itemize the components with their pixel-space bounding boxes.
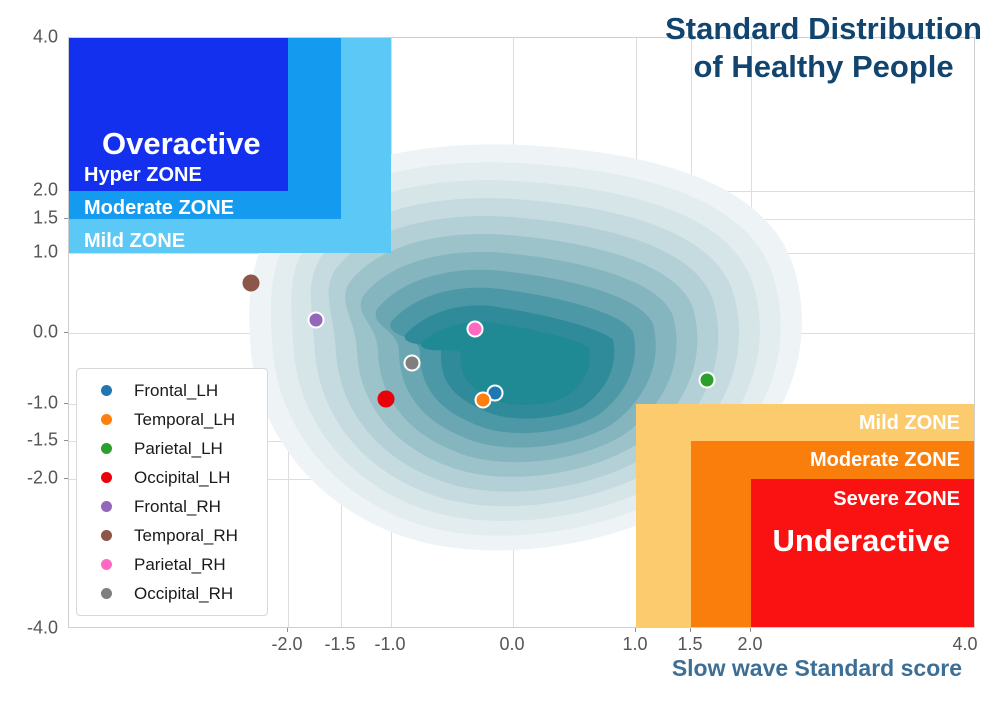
ytick-label: 1.5 [33,208,58,229]
chart-title: Standard Distribution of Healthy People [665,10,982,86]
ytick-label: -4.0 [27,618,58,639]
xtick-mark [750,628,751,632]
ytick-mark [64,332,68,333]
data-point-frontal-rh[interactable] [308,312,325,329]
legend-marker-icon [101,443,112,454]
overactive-group-label: Overactive [102,126,261,162]
ytick-label: 4.0 [33,27,58,48]
zone-label-moderate-overactive: Moderate ZONE [84,197,234,220]
zone-label-mild-underactive: Mild ZONE [859,412,960,435]
zone-label-severe-underactive: Severe ZONE [833,488,960,511]
data-point-occipital-lh[interactable] [378,391,395,408]
zone-label-hyper: Hyper ZONE [84,164,202,187]
legend-label: Parietal_LH [134,439,223,459]
legend-item-temporal-lh[interactable]: Temporal_LH [87,405,257,434]
ytick-label: -1.0 [27,393,58,414]
legend-label: Occipital_RH [134,584,233,604]
legend-item-frontal-rh[interactable]: Frontal_RH [87,492,257,521]
legend-marker-icon [101,385,112,396]
legend-item-occipital-rh[interactable]: Occipital_RH [87,579,257,608]
xtick-label: -2.0 [271,634,302,655]
legend-item-temporal-rh[interactable]: Temporal_RH [87,521,257,550]
xtick-mark [690,628,691,632]
data-point-parietal-lh[interactable] [699,372,716,389]
xtick-mark [635,628,636,632]
data-point-temporal-lh[interactable] [475,392,492,409]
xtick-label: 1.5 [677,634,702,655]
legend-marker-icon [101,501,112,512]
legend-item-parietal-lh[interactable]: Parietal_LH [87,434,257,463]
legend-label: Parietal_RH [134,555,226,575]
legend[interactable]: Frontal_LH Temporal_LH Parietal_LH Occip… [76,368,268,616]
ytick-mark [64,440,68,441]
legend-label: Occipital_LH [134,468,230,488]
underactive-group-label: Underactive [773,523,950,559]
legend-label: Temporal_LH [134,410,235,430]
ytick-label: 1.0 [33,242,58,263]
xtick-label: 1.0 [622,634,647,655]
ytick-mark [64,403,68,404]
legend-marker-icon [101,472,112,483]
chart-root: Overactive Hyper ZONE Moderate ZONE Mild… [0,0,1000,718]
xtick-label: 0.0 [499,634,524,655]
legend-marker-icon [101,559,112,570]
legend-marker-icon [101,530,112,541]
xtick-label: 2.0 [737,634,762,655]
zone-label-mild-overactive: Mild ZONE [84,230,185,253]
data-point-temporal-rh[interactable] [243,275,260,292]
zone-label-moderate-underactive: Moderate ZONE [810,449,960,472]
data-point-parietal-rh[interactable] [467,321,484,338]
xtick-label: 4.0 [952,634,977,655]
ytick-mark [64,478,68,479]
ytick-label: -1.5 [27,430,58,451]
ytick-label: 0.0 [33,322,58,343]
legend-marker-icon [101,414,112,425]
xtick-mark [287,628,288,632]
ytick-label: 2.0 [33,180,58,201]
legend-item-occipital-lh[interactable]: Occipital_LH [87,463,257,492]
legend-label: Temporal_RH [134,526,238,546]
legend-item-parietal-rh[interactable]: Parietal_RH [87,550,257,579]
legend-label: Frontal_LH [134,381,218,401]
ytick-mark [64,218,68,219]
ytick-label: -2.0 [27,468,58,489]
data-point-occipital-rh[interactable] [404,355,421,372]
legend-label: Frontal_RH [134,497,221,517]
x-axis-label: Slow wave Standard score [672,655,962,682]
legend-item-frontal-lh[interactable]: Frontal_LH [87,376,257,405]
legend-marker-icon [101,588,112,599]
xtick-label: -1.0 [374,634,405,655]
xtick-label: -1.5 [324,634,355,655]
